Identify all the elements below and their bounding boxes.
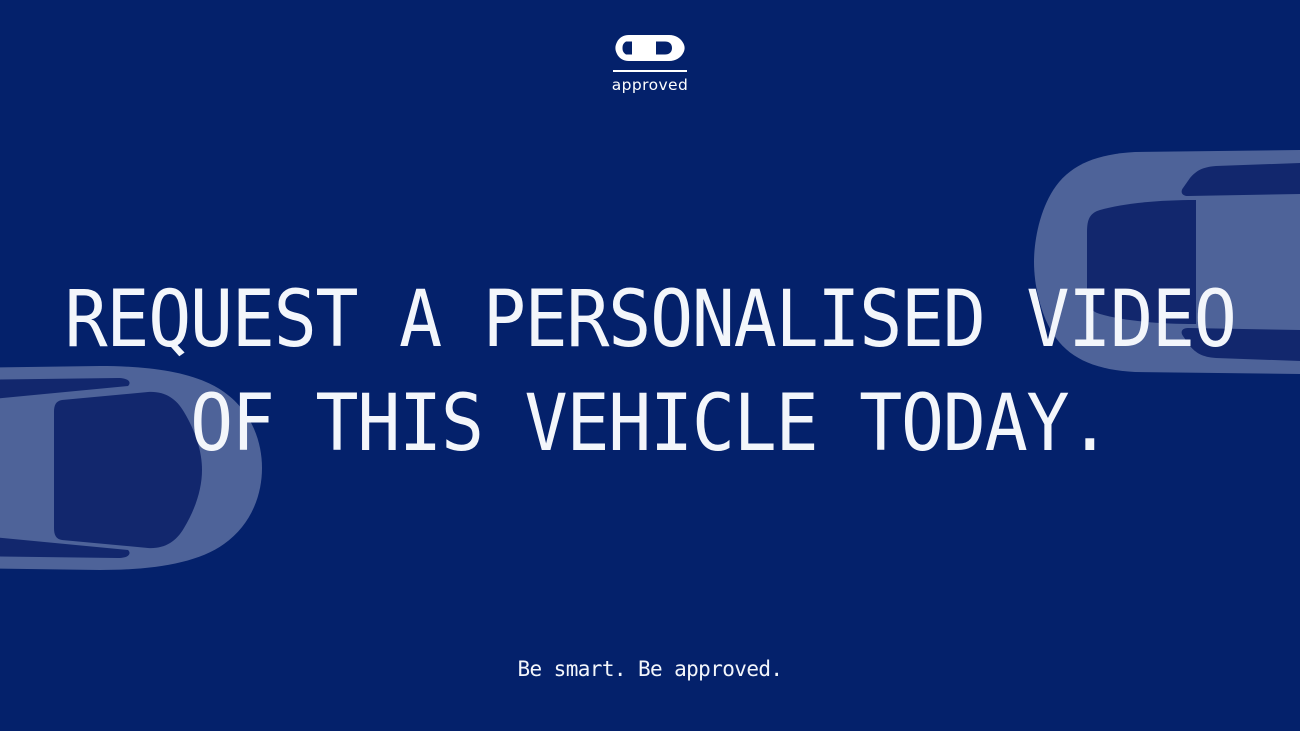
headline-line-1: REQUEST A PERSONALISED VIDEO — [52, 268, 1248, 372]
brand-logo: approved — [0, 33, 1300, 94]
brand-divider — [613, 70, 687, 72]
headline: REQUEST A PERSONALISED VIDEO OF THIS VEH… — [0, 268, 1300, 476]
slide-canvas: approved REQUEST A PERSONALISED VIDEO OF… — [0, 0, 1300, 731]
headline-line-2: OF THIS VEHICLE TODAY. — [52, 372, 1248, 476]
tagline: Be smart. Be approved. — [0, 655, 1300, 683]
brand-name: approved — [612, 78, 688, 94]
car-top-view-icon — [615, 33, 685, 63]
